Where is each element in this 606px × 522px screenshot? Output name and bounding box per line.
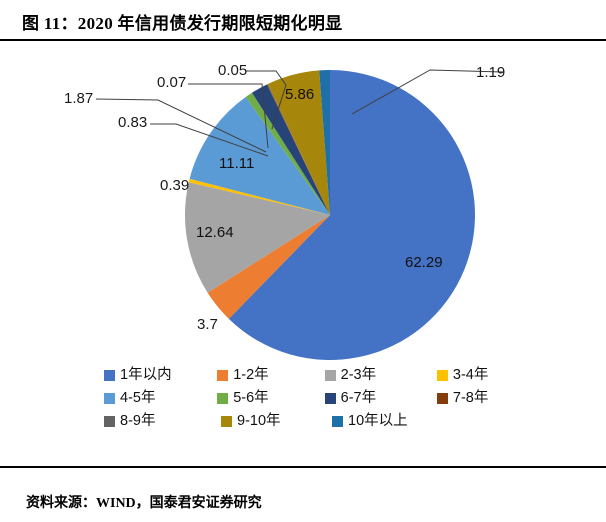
legend-item-8-9年[interactable]: 8-9年 xyxy=(104,414,221,429)
pie-data-label: 0.05 xyxy=(218,62,247,79)
legend-swatch-icon xyxy=(217,393,228,404)
pie-data-label: 62.29 xyxy=(405,254,443,271)
legend-label: 1-2年 xyxy=(233,368,268,383)
legend-item-7-8年[interactable]: 7-8年 xyxy=(437,391,524,406)
legend-item-9-10年[interactable]: 9-10年 xyxy=(221,414,332,429)
legend-label: 7-8年 xyxy=(453,391,488,406)
pie-data-label: 12.64 xyxy=(196,224,234,241)
legend-label: 4-5年 xyxy=(120,391,155,406)
pie-data-label: 1.19 xyxy=(476,64,505,81)
legend-swatch-icon xyxy=(332,416,343,427)
legend-label: 2-3年 xyxy=(341,368,376,383)
legend-item-6-7年[interactable]: 6-7年 xyxy=(325,391,437,406)
header-divider xyxy=(0,39,606,41)
legend-swatch-icon xyxy=(437,370,448,381)
legend-label: 1年以内 xyxy=(120,368,172,383)
pie-data-label: 11.11 xyxy=(219,155,254,172)
legend-swatch-icon xyxy=(217,370,228,381)
legend-row: 8-9年9-10年10年以上 xyxy=(104,410,524,433)
legend-label: 10年以上 xyxy=(348,414,408,429)
chart-legend: 1年以内1-2年2-3年3-4年4-5年5-6年6-7年7-8年8-9年9-10… xyxy=(104,364,524,433)
legend-swatch-icon xyxy=(325,393,336,404)
pie-data-label: 1.87 xyxy=(64,90,93,107)
legend-item-4-5年[interactable]: 4-5年 xyxy=(104,391,217,406)
legend-item-2-3年[interactable]: 2-3年 xyxy=(325,368,437,383)
legend-label: 8-9年 xyxy=(120,414,155,429)
footer-divider xyxy=(0,466,606,468)
legend-swatch-icon xyxy=(325,370,336,381)
legend-label: 3-4年 xyxy=(453,368,488,383)
legend-item-1年以内[interactable]: 1年以内 xyxy=(104,368,217,383)
figure-header: 图 11：2020 年信用债发行期限短期化明显 xyxy=(0,0,606,41)
pie-data-label: 0.07 xyxy=(157,74,186,91)
source-note: 资料来源：WIND，国泰君安证券研究 xyxy=(26,492,262,512)
pie-data-label: 0.83 xyxy=(118,114,147,131)
legend-label: 6-7年 xyxy=(341,391,376,406)
pie-data-label: 5.86 xyxy=(285,86,314,103)
page-title: 图 11：2020 年信用债发行期限短期化明显 xyxy=(22,9,342,34)
legend-label: 9-10年 xyxy=(237,414,281,429)
pie-data-label: 0.39 xyxy=(160,177,189,194)
legend-swatch-icon xyxy=(104,393,115,404)
legend-swatch-icon xyxy=(104,370,115,381)
figure-container: 图 11：2020 年信用债发行期限短期化明显 1.190.050.071.87… xyxy=(0,0,606,522)
pie-slices xyxy=(185,70,475,360)
legend-item-3-4年[interactable]: 3-4年 xyxy=(437,368,524,383)
legend-swatch-icon xyxy=(221,416,232,427)
legend-swatch-icon xyxy=(104,416,115,427)
legend-row: 4-5年5-6年6-7年7-8年 xyxy=(104,387,524,410)
legend-item-10年以上[interactable]: 10年以上 xyxy=(332,414,448,429)
legend-item-1-2年[interactable]: 1-2年 xyxy=(217,368,324,383)
legend-label: 5-6年 xyxy=(233,391,268,406)
pie-data-label: 3.7 xyxy=(197,316,218,333)
legend-item-5-6年[interactable]: 5-6年 xyxy=(217,391,324,406)
legend-row: 1年以内1-2年2-3年3-4年 xyxy=(104,364,524,387)
legend-swatch-icon xyxy=(437,393,448,404)
